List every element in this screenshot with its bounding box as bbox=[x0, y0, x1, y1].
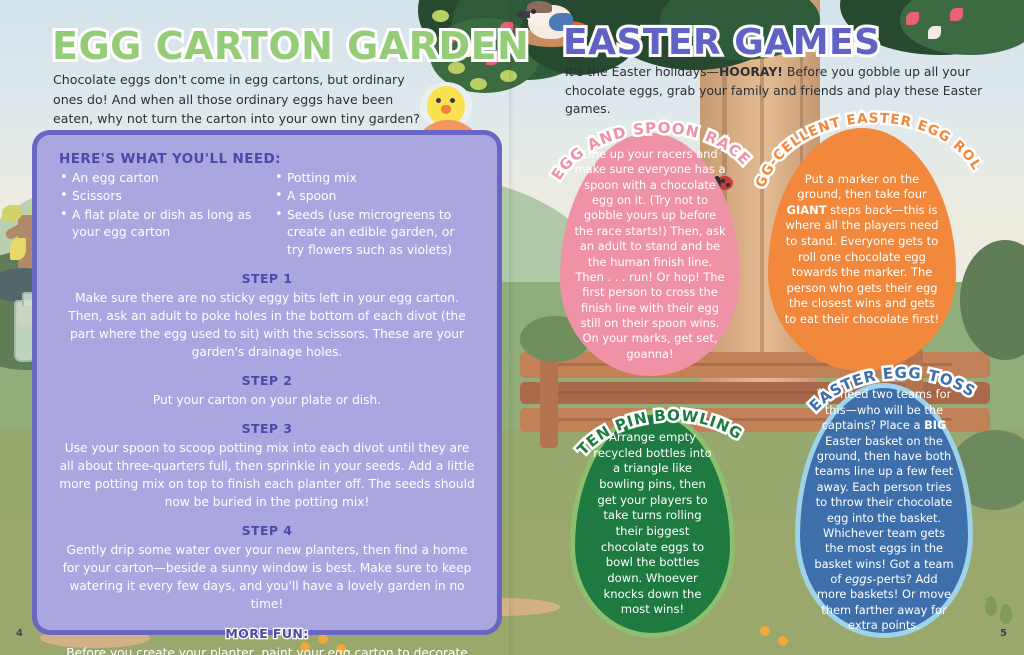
list-item: An egg carton bbox=[59, 170, 260, 187]
game-body-emphasis-2: eggs bbox=[845, 572, 872, 586]
more-fun-body: Before you create your planter, paint yo… bbox=[59, 645, 475, 655]
step-4-heading: STEP 4 bbox=[59, 523, 475, 538]
step-3-body: Use your spoon to scoop potting mix into… bbox=[59, 440, 475, 512]
list-item: Potting mix bbox=[274, 170, 475, 187]
step-1-body: Make sure there are no sticky eggy bits … bbox=[59, 290, 475, 362]
blossom-icon bbox=[928, 26, 941, 39]
game-body-easter-egg-toss: You need two teams for this—who will be … bbox=[800, 387, 968, 633]
materials-columns: An egg carton Scissors A flat plate or d… bbox=[59, 170, 475, 260]
flower-icon bbox=[778, 636, 788, 646]
list-item: Scissors bbox=[59, 188, 260, 205]
instructions-panel: HERE'S WHAT YOU'LL NEED: An egg carton S… bbox=[32, 130, 502, 635]
more-fun-heading: MORE FUN: bbox=[59, 626, 475, 641]
intro-right-part-1: It's the Easter holidays— bbox=[565, 64, 719, 79]
intro-right-emphasis: HOORAY! bbox=[719, 64, 783, 79]
list-item: Seeds (use microgreens to create an edib… bbox=[274, 207, 475, 259]
game-body-egg-and-spoon-race: Line up your racers and make sure everyo… bbox=[560, 147, 740, 362]
game-body-ten-pin-bowling: Arrange empty recycled bottles into a tr… bbox=[575, 430, 730, 618]
game-body-part-2: steps back—this is where all the players… bbox=[785, 203, 940, 326]
book-spread: EGG CARTON GARDEN Chocolate eggs don't c… bbox=[0, 0, 1024, 655]
intro-text-right: It's the Easter holidays—HOORAY! Before … bbox=[565, 63, 997, 119]
page-number-left: 4 bbox=[16, 628, 23, 639]
materials-heading: HERE'S WHAT YOU'LL NEED: bbox=[59, 151, 475, 167]
leaf-icon bbox=[470, 78, 487, 90]
game-card-easter-egg-toss: You need two teams for this—who will be … bbox=[795, 383, 973, 638]
leaf-icon bbox=[10, 238, 26, 260]
list-item: A flat plate or dish as long as your egg… bbox=[59, 207, 260, 242]
step-1-heading: STEP 1 bbox=[59, 271, 475, 286]
materials-column-1: An egg carton Scissors A flat plate or d… bbox=[59, 170, 260, 260]
materials-column-2: Potting mix A spoon Seeds (use microgree… bbox=[274, 170, 475, 260]
game-body-emphasis: BIG bbox=[924, 418, 946, 432]
sprout-icon bbox=[985, 596, 997, 616]
book-gutter bbox=[509, 0, 515, 655]
game-body-part-2: Easter basket on the ground, then have b… bbox=[814, 434, 953, 587]
page-number-right: 5 bbox=[1000, 628, 1007, 639]
page-title-right: EASTER GAMES bbox=[563, 22, 881, 63]
leaf-icon bbox=[2, 205, 22, 221]
blossom-icon bbox=[950, 8, 963, 21]
step-3-heading: STEP 3 bbox=[59, 421, 475, 436]
flower-icon bbox=[760, 626, 770, 636]
step-4-body: Gently drip some water over your new pla… bbox=[59, 542, 475, 614]
game-card-ten-pin-bowling: Arrange empty recycled bottles into a tr… bbox=[570, 410, 735, 638]
game-body-egg-cellent-easter-egg-roll: Put a marker on the ground, then take fo… bbox=[768, 172, 956, 327]
list-item: A spoon bbox=[274, 188, 475, 205]
sprout-icon bbox=[1000, 604, 1012, 624]
blossom-icon bbox=[906, 12, 919, 25]
game-body-emphasis: GIANT bbox=[787, 203, 827, 217]
more-fun-body-part-1: Before you create your planter, paint yo… bbox=[66, 646, 468, 655]
step-2-body: Put your carton on your plate or dish. bbox=[59, 392, 475, 410]
step-2-heading: STEP 2 bbox=[59, 373, 475, 388]
game-card-egg-and-spoon-race: Line up your racers and make sure everyo… bbox=[560, 133, 740, 376]
leaf-icon bbox=[432, 10, 449, 22]
game-body-part-1: Put a marker on the ground, then take fo… bbox=[797, 172, 926, 202]
fence-post bbox=[540, 348, 558, 448]
page-title-left: EGG CARTON GARDEN bbox=[52, 24, 529, 68]
